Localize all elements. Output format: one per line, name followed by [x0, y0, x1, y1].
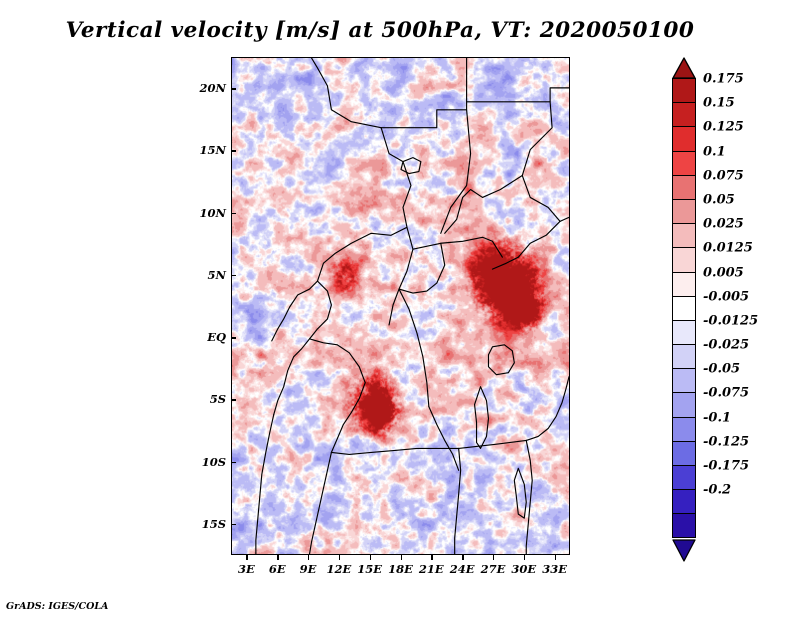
colorbar-swatch: -0.05	[672, 368, 696, 392]
lat-tick-label: 5S	[210, 392, 226, 406]
lon-tick-mark	[370, 555, 371, 560]
lon-tick-label: 15E	[357, 562, 382, 576]
lat-tick-label: EQ	[207, 330, 226, 344]
colorbar-swatch: -0.075	[672, 392, 696, 416]
lat-tick-mark	[231, 150, 236, 151]
colorbar-tick-label: -0.075	[703, 386, 749, 401]
lat-tick-label: 10N	[199, 206, 226, 220]
lon-tick-mark	[401, 555, 402, 560]
lat-tick-label: 5N	[207, 268, 226, 282]
lon-tick-mark	[277, 555, 278, 560]
lon-tick-mark	[524, 555, 525, 560]
lon-tick-label: 21E	[419, 562, 444, 576]
colorbar-swatch: 0.15	[672, 102, 696, 126]
page-title: Vertical velocity [m/s] at 500hPa, VT: 2…	[0, 18, 760, 43]
colorbar-swatch: -0.175	[672, 465, 696, 489]
colorbar-tick-label: -0.005	[703, 289, 749, 304]
colorbar-swatch: 0.0125	[672, 247, 696, 271]
colorbar-tick-label: -0.0125	[703, 313, 758, 328]
lat-tick-label: 15S	[202, 517, 226, 531]
lat-tick-label: 10S	[202, 455, 226, 469]
lon-tick-mark	[308, 555, 309, 560]
lon-tick-label: 3E	[238, 562, 255, 576]
lon-tick-mark	[555, 555, 556, 560]
lat-tick-label: 20N	[199, 81, 226, 95]
colorbar-swatch: 0.075	[672, 175, 696, 199]
lat-tick-mark	[231, 337, 236, 338]
lat-tick-mark	[231, 399, 236, 400]
colorbar-swatch: -0.2	[672, 489, 696, 513]
lat-tick-mark	[231, 88, 236, 89]
colorbar-swatch: -0.1	[672, 417, 696, 441]
lon-tick-label: 27E	[481, 562, 506, 576]
colorbar-swatch	[672, 513, 696, 537]
colorbar-tick-label: 0.0125	[703, 241, 753, 256]
lat-tick-label: 15N	[199, 143, 226, 157]
colorbar-swatch: 0.05	[672, 199, 696, 223]
colorbar-tick-label: -0.05	[703, 362, 740, 377]
colorbar-tick-label: 0.15	[703, 96, 735, 111]
vertical-velocity-heatmap	[232, 58, 569, 554]
lon-tick-label: 9E	[300, 562, 317, 576]
colorbar-swatch: -0.0125	[672, 320, 696, 344]
lon-tick-label: 18E	[388, 562, 413, 576]
colorbar-tick-label: -0.175	[703, 459, 749, 474]
lat-tick-mark	[231, 213, 236, 214]
lon-tick-label: 30E	[511, 562, 536, 576]
colorbar-tick-label: -0.125	[703, 434, 749, 449]
lon-tick-mark	[493, 555, 494, 560]
longitude-axis: 3E6E9E12E15E18E21E24E27E30E33E	[0, 562, 800, 582]
lon-tick-label: 33E	[542, 562, 567, 576]
lon-tick-mark	[431, 555, 432, 560]
colorbar-swatch: -0.025	[672, 344, 696, 368]
colorbar-swatch: 0.125	[672, 126, 696, 150]
colorbar-swatch: -0.125	[672, 441, 696, 465]
lon-tick-label: 12E	[326, 562, 351, 576]
colorbar-tick-label: -0.1	[703, 410, 731, 425]
colorbar-swatch: 0.005	[672, 272, 696, 296]
lat-tick-mark	[231, 524, 236, 525]
lon-tick-label: 6E	[269, 562, 286, 576]
colorbar-tick-label: 0.1	[703, 144, 726, 159]
grads-attribution: GrADS: IGES/COLA	[6, 601, 108, 612]
lon-tick-mark	[462, 555, 463, 560]
lon-tick-label: 24E	[450, 562, 475, 576]
colorbar-swatch: 0.1	[672, 151, 696, 175]
colorbar-tick-label: 0.175	[703, 72, 744, 87]
colorbar-tick-label: 0.05	[703, 192, 735, 207]
colorbar-tick-label: 0.025	[703, 217, 744, 232]
colorbar-swatch: -0.005	[672, 296, 696, 320]
latitude-axis: 20N15N10N5NEQ5S10S15S	[186, 57, 226, 555]
colorbar-tick-label: 0.075	[703, 168, 744, 183]
colorbar-max-arrow-icon	[672, 57, 696, 79]
map-plot-area	[231, 57, 570, 555]
colorbar-min-arrow-icon	[672, 538, 696, 562]
colorbar-tick-label: 0.005	[703, 265, 744, 280]
colorbar-tick-label: 0.125	[703, 120, 744, 135]
lat-tick-mark	[231, 275, 236, 276]
lon-tick-mark	[339, 555, 340, 560]
colorbar-swatch: 0.175	[672, 78, 696, 102]
lat-tick-mark	[231, 462, 236, 463]
colorbar: 0.1750.150.1250.10.0750.050.0250.01250.0…	[672, 78, 696, 538]
colorbar-tick-label: -0.2	[703, 483, 731, 498]
lon-tick-mark	[246, 555, 247, 560]
colorbar-tick-label: -0.025	[703, 338, 749, 353]
colorbar-swatch: 0.025	[672, 223, 696, 247]
